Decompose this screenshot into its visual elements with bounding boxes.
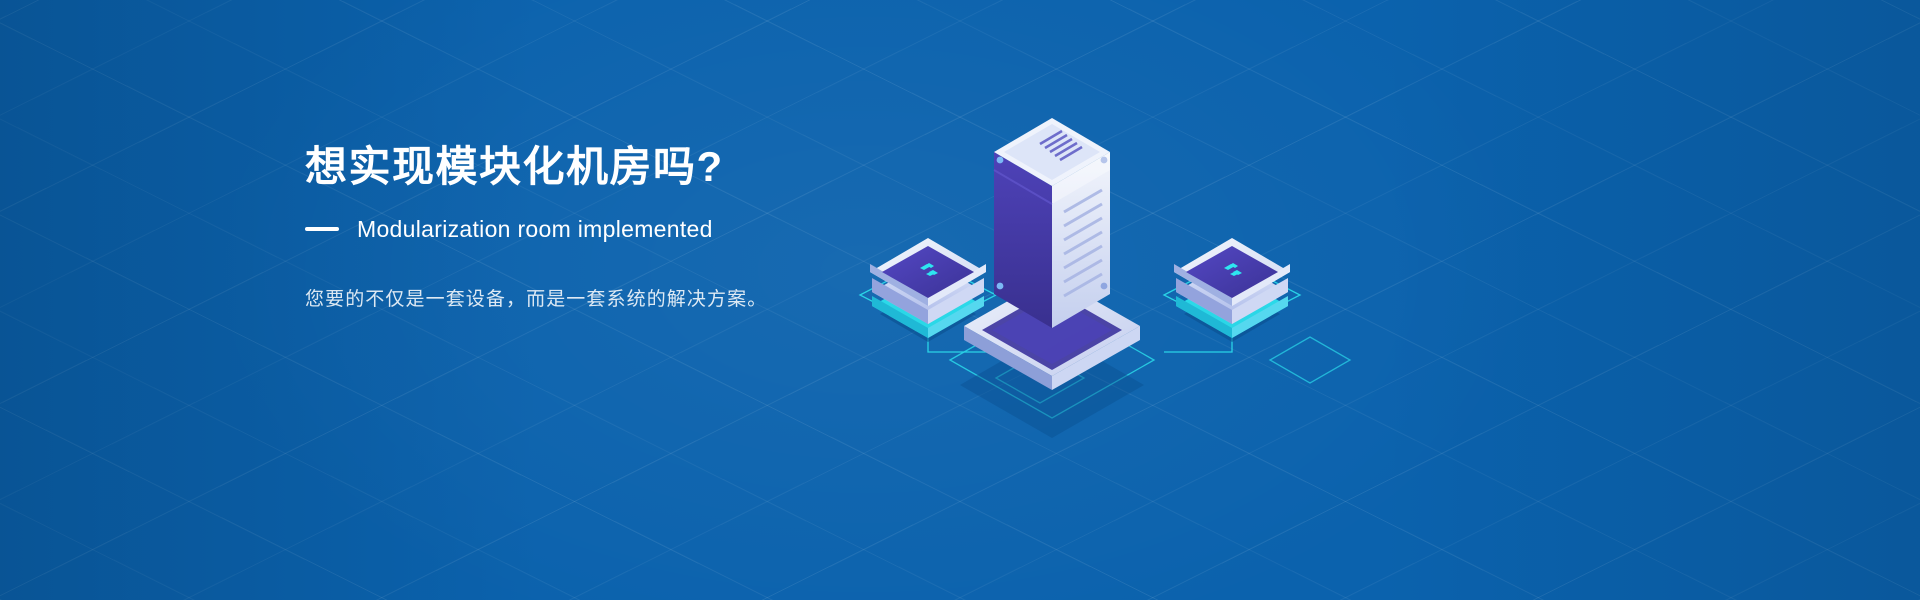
chip-module-left: [870, 238, 986, 338]
illustration-svg: [800, 60, 1380, 420]
chip-module-right: [1174, 238, 1290, 338]
server-rack-tower: [964, 118, 1140, 390]
hero-subtitle: Modularization room implemented: [357, 216, 713, 243]
rack-body: [994, 118, 1110, 328]
hero-banner: 想实现模块化机房吗? Modularization room implement…: [0, 0, 1920, 600]
dash-divider-icon: [305, 227, 339, 231]
isometric-server-illustration: [800, 60, 1380, 420]
